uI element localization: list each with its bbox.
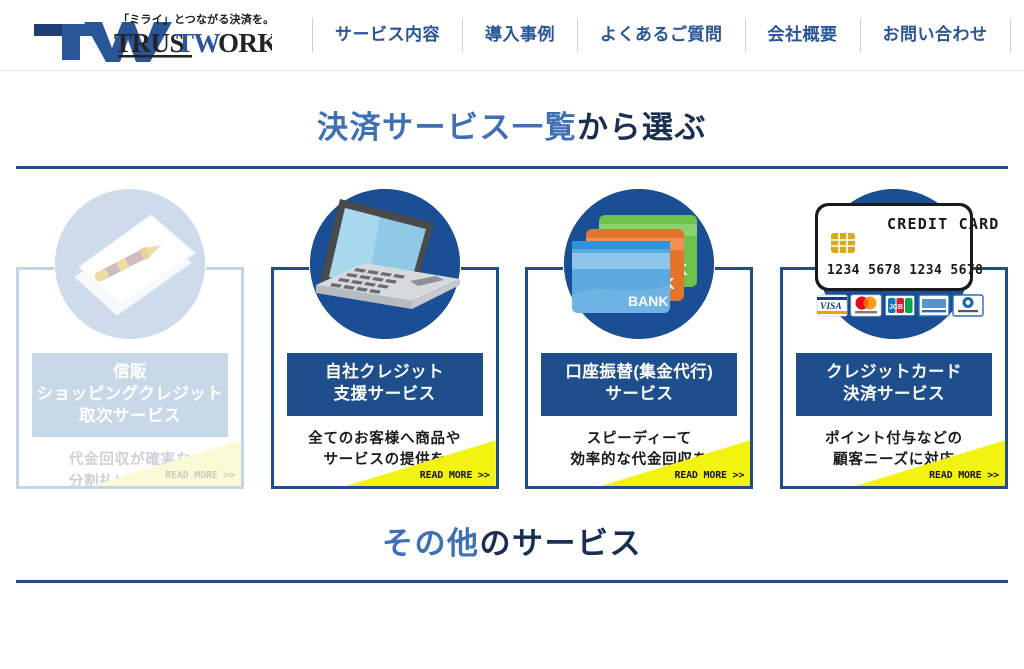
- service-card-shinpan[interactable]: 信販 ショッピングクレジット 取次サービス 代金回収が確実な 分割払いサービス …: [16, 189, 244, 489]
- card-title-line2: 決済サービス: [800, 384, 988, 406]
- card-title: クレジットカード 決済サービス: [796, 353, 992, 416]
- other-services-title-light: その他: [382, 526, 480, 561]
- service-card-grid: 信販 ショッピングクレジット 取次サービス 代金回収が確実な 分割払いサービス …: [0, 189, 1024, 489]
- nav-company[interactable]: 会社概要: [746, 13, 860, 57]
- site-logo[interactable]: TRUS TW ORK 「ミライ」とつながる決済を。: [22, 6, 272, 64]
- service-card-credit-card[interactable]: CREDIT CARD 1234 5678 1234 5678: [780, 189, 1008, 489]
- read-more-label: READ MORE >>: [165, 470, 235, 481]
- page-title-light: 決済サービス一覧: [317, 110, 577, 145]
- main-navigation: サービス内容 導入事例 よくあるご質問 会社概要 お問い合わせ: [312, 13, 1011, 57]
- page-title-dark: から選ぶ: [577, 110, 707, 145]
- heading-divider: [16, 580, 1008, 583]
- read-more-button[interactable]: READ MORE >>: [855, 440, 1005, 486]
- read-more-button[interactable]: READ MORE >>: [346, 440, 496, 486]
- card-title-line1: 自社クレジット: [291, 362, 479, 384]
- site-header: TRUS TW ORK 「ミライ」とつながる決済を。 サービス内容 導入事例 よ…: [0, 0, 1024, 71]
- other-services-title-dark: のサービス: [480, 526, 643, 561]
- read-more-button[interactable]: READ MORE >>: [91, 440, 241, 486]
- read-more-label: READ MORE >>: [420, 470, 490, 481]
- service-card-own-credit[interactable]: 自社クレジット 支援サービス 全てのお客様へ商品や サービスの提供を READ …: [271, 189, 499, 489]
- nav-case-studies[interactable]: 導入事例: [463, 13, 577, 57]
- read-more-label: READ MORE >>: [929, 470, 999, 481]
- logo-tagline: 「ミライ」とつながる決済を。: [118, 11, 274, 27]
- credit-card-brand-text: CREDIT CARD: [887, 215, 1000, 233]
- card-title-line2: ショッピングクレジット: [36, 384, 224, 406]
- card-title-line1: クレジットカード: [800, 362, 988, 384]
- card-title-line2: サービス: [545, 384, 733, 406]
- nav-divider: [1010, 18, 1011, 52]
- other-services-heading: その他のサービス: [0, 489, 1024, 583]
- other-services-title: その他のサービス: [0, 525, 1024, 562]
- nav-faq[interactable]: よくあるご質問: [578, 13, 745, 57]
- svg-text:TW: TW: [176, 28, 221, 58]
- read-more-button[interactable]: READ MORE >>: [600, 440, 750, 486]
- nav-contact[interactable]: お問い合わせ: [861, 13, 1010, 57]
- svg-text:ORK: ORK: [218, 28, 272, 58]
- service-card-account-transfer[interactable]: K K BANK: [525, 189, 753, 489]
- card-title-line1: 信販: [36, 362, 224, 384]
- heading-divider: [16, 166, 1008, 169]
- page-title: 決済サービス一覧から選ぶ: [0, 109, 1024, 146]
- card-title: 信販 ショッピングクレジット 取次サービス: [32, 353, 228, 437]
- card-title-line3: 取次サービス: [36, 406, 224, 428]
- nav-service-content[interactable]: サービス内容: [313, 13, 462, 57]
- page-root: TRUS TW ORK 「ミライ」とつながる決済を。 サービス内容 導入事例 よ…: [0, 0, 1024, 669]
- card-title-line1: 口座振替(集金代行): [545, 362, 733, 384]
- svg-text:TRUS: TRUS: [114, 28, 184, 58]
- card-title: 口座振替(集金代行) サービス: [541, 353, 737, 416]
- read-more-label: READ MORE >>: [674, 470, 744, 481]
- payment-services-heading: 決済サービス一覧から選ぶ: [0, 71, 1024, 169]
- card-title-line2: 支援サービス: [291, 384, 479, 406]
- card-title: 自社クレジット 支援サービス: [287, 353, 483, 416]
